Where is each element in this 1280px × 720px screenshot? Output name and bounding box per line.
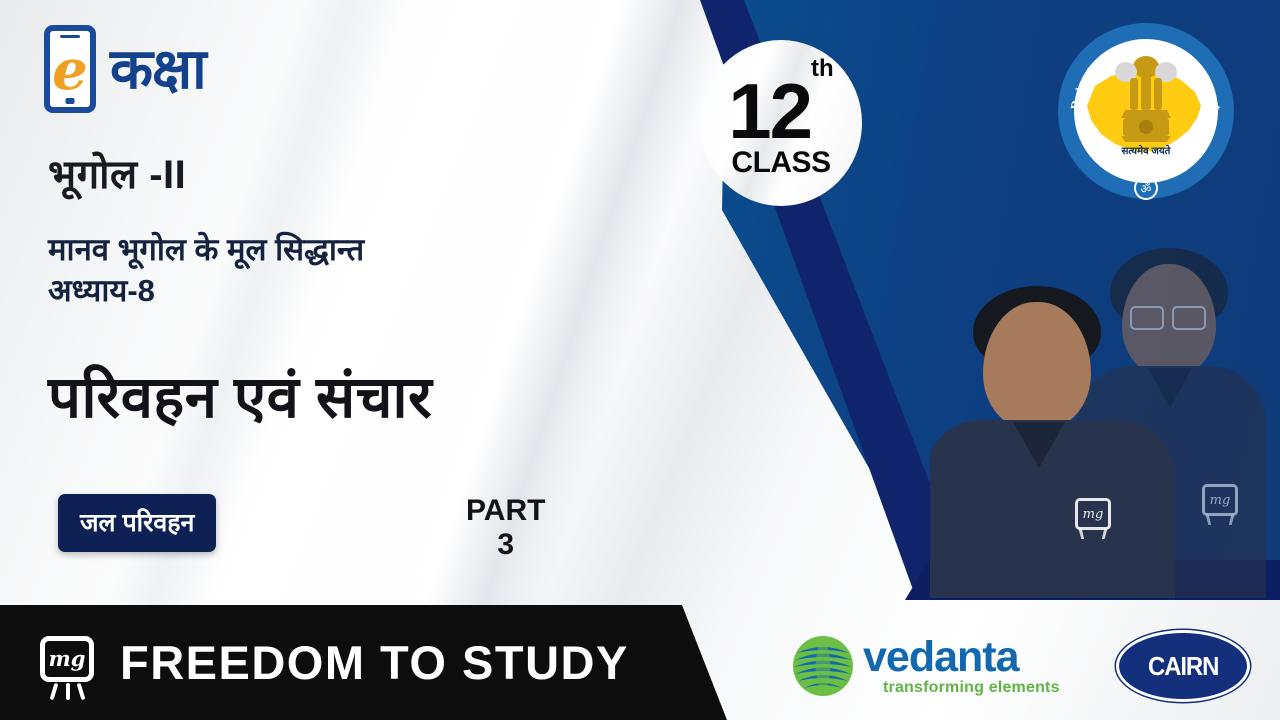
part-indicator: PART 3 (466, 494, 545, 561)
footer-tagline: FREEDOM TO STUDY (120, 635, 629, 690)
easel-leg-right (77, 682, 86, 699)
rajasthan-education-department-emblem: सत्यमेव जयते Rajasthan Education Departm… (1055, 20, 1237, 202)
emblem-svg: सत्यमेव जयते Rajasthan Education Departm… (1055, 20, 1237, 202)
logo-word-kaksha: कक्षा (110, 41, 206, 97)
title-slide: e कक्षा भूगोल -II मानव भूगोल के मूल सिद्… (0, 0, 1280, 720)
subject-name: भूगोल -II (48, 145, 186, 200)
mg-board-text: mg (40, 636, 94, 682)
phone-home-button (66, 98, 75, 104)
book-title: मानव भूगोल के मूल सिद्धान्त (48, 230, 364, 271)
footer-bar: mg FREEDOM TO STUDY (0, 605, 735, 720)
topic-badge: जल परिवहन (58, 494, 216, 552)
class-number: 12 (728, 67, 811, 155)
vedanta-tagline: transforming elements (883, 680, 1060, 696)
vedanta-wordmark: vedanta transforming elements (863, 636, 1060, 696)
shirt-mg-logo: mg (1075, 498, 1111, 530)
logo-letter-e: e (52, 42, 88, 98)
cairn-logo: CAIRN (1116, 630, 1250, 702)
phone-speaker (60, 35, 80, 38)
smartphone-icon: e (44, 25, 96, 113)
class-ordinal: th (811, 55, 834, 82)
class-badge: 12th CLASS (700, 40, 862, 206)
sponsor-logos: vedanta transforming elements CAIRN (780, 612, 1280, 720)
easel-leg-left (50, 682, 59, 699)
instructor-photos: mg mg (930, 238, 1280, 598)
vedanta-globe-icon (792, 635, 854, 697)
part-label: PART (466, 494, 545, 528)
mg-easel-icon: mg (36, 634, 98, 692)
lesson-title: परिवहन एवं संचार (48, 355, 432, 434)
vedanta-logo: vedanta transforming elements (792, 635, 1060, 697)
vedanta-name: vedanta (863, 636, 1060, 679)
ekaksha-logo: e कक्षा (44, 25, 206, 113)
easel-leg-center (66, 683, 70, 700)
instructor-front: mg (930, 286, 1175, 598)
part-number: 3 (466, 528, 545, 562)
cairn-name: CAIRN (1148, 651, 1218, 682)
svg-text:ॐ: ॐ (1141, 182, 1152, 196)
book-and-chapter: मानव भूगोल के मूल सिद्धान्त अध्याय-8 (48, 230, 364, 312)
emblem-motto: सत्यमेव जयते (1121, 144, 1172, 157)
chapter-number: अध्याय-8 (48, 271, 364, 312)
class-number-group: 12th (728, 76, 833, 148)
